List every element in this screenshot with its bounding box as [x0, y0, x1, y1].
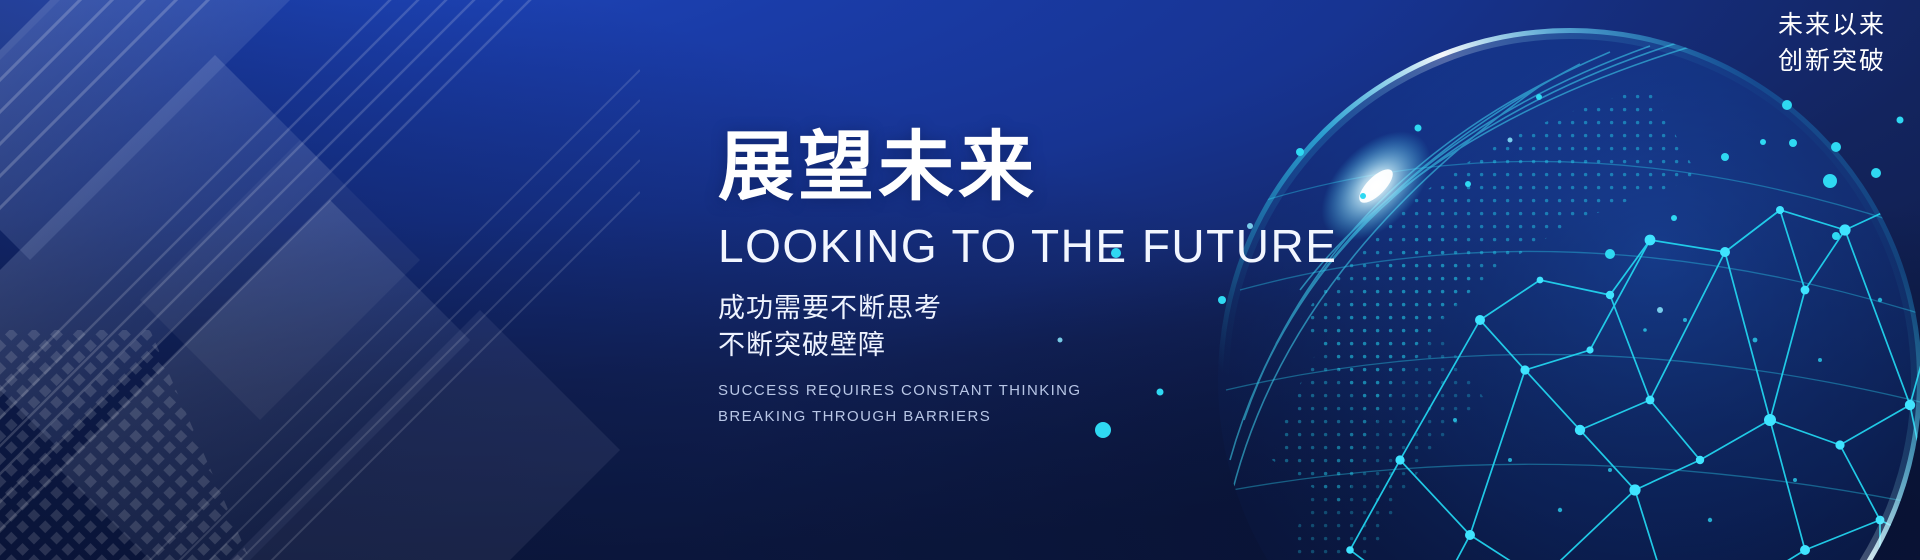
headline-copy-block: 展望未来 LOOKING TO THE FUTURE 成功需要不断思考 不断突破… — [718, 128, 1358, 431]
globe-network-nodes — [1346, 196, 1920, 560]
subtitle-chinese-line2: 不断突破壁障 — [718, 327, 1358, 364]
subtitle-english-line2: BREAKING THROUGH BARRIERS — [718, 404, 1358, 430]
promo-banner: 未来以来 创新突破 展望未来 LOOKING TO THE FUTURE 成功需… — [0, 0, 1920, 560]
globe-network-lines — [1350, 200, 1920, 560]
globe-speck-dots — [1453, 298, 1882, 560]
left-geometric-decoration — [0, 0, 640, 560]
subtitle-english-line1: SUCCESS REQUIRES CONSTANT THINKING — [718, 378, 1358, 404]
corner-tagline-line2: 创新突破 — [1778, 44, 1886, 80]
headline-chinese: 展望未来 — [718, 128, 1358, 207]
corner-tagline: 未来以来 创新突破 — [1778, 8, 1886, 79]
subtitle-chinese: 成功需要不断思考 不断突破壁障 — [718, 290, 1358, 365]
subtitle-english: SUCCESS REQUIRES CONSTANT THINKING BREAK… — [718, 378, 1358, 431]
corner-tagline-line1: 未来以来 — [1778, 8, 1886, 44]
subtitle-chinese-line1: 成功需要不断思考 — [718, 290, 1358, 327]
headline-english: LOOKING TO THE FUTURE — [718, 221, 1358, 272]
